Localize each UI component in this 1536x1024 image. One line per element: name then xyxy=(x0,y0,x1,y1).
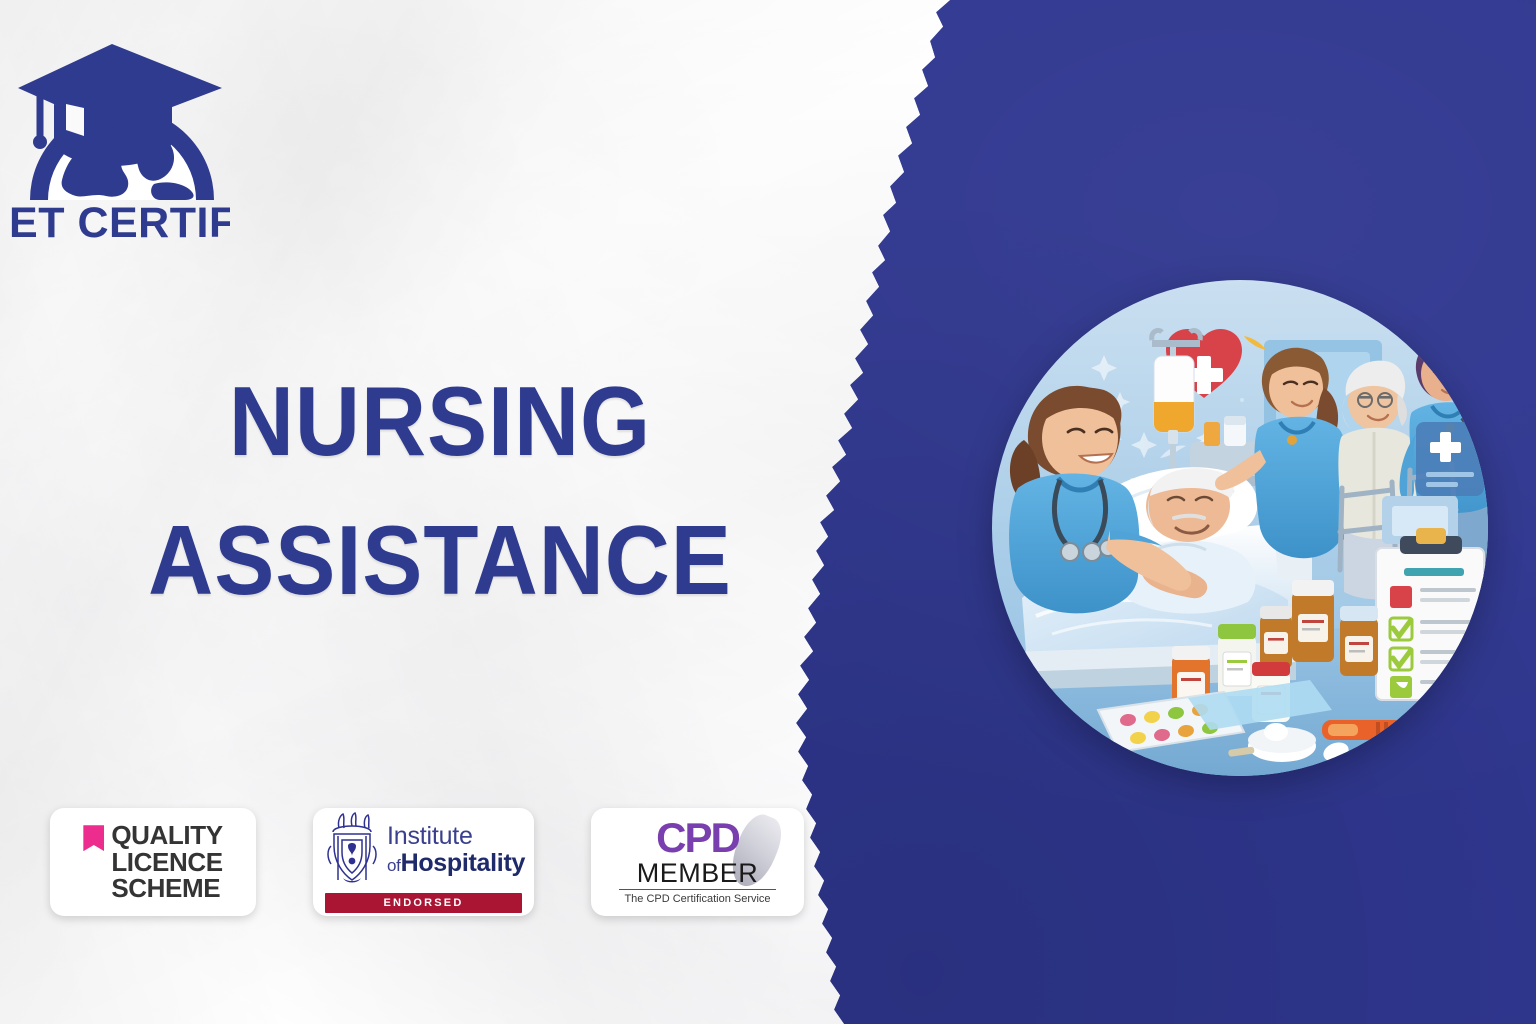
bookmark-icon xyxy=(83,825,104,851)
qls-line-2: LICENCE xyxy=(111,849,222,876)
accreditation-badges: QUALITY LICENCE SCHEME xyxy=(50,808,804,916)
badge-cpd-member[interactable]: CPD MEMBER The CPD Certification Service xyxy=(591,808,804,916)
qls-line-3: SCHEME xyxy=(111,875,222,902)
title-line-2: ASSISTANCE xyxy=(35,491,845,630)
cpd-subtitle: The CPD Certification Service xyxy=(601,893,794,906)
course-banner: GET CERTIFY NURSING ASSISTANCE QUALITY L… xyxy=(0,0,1536,1024)
qls-line-1: QUALITY xyxy=(111,822,222,849)
ioh-line-2: Hospitality xyxy=(401,849,526,877)
graduation-cap-globe-icon xyxy=(18,44,222,200)
badge-quality-licence-scheme[interactable]: QUALITY LICENCE SCHEME xyxy=(50,808,256,916)
badge-institute-of-hospitality[interactable]: Institute ofHospitality ENDORSED xyxy=(313,808,534,916)
ioh-line-1: Institute xyxy=(387,824,525,849)
ioh-of: of xyxy=(387,856,401,875)
heraldic-crest-icon xyxy=(325,812,379,888)
get-certify-logo[interactable]: GET CERTIFY xyxy=(10,30,230,245)
page-title: NURSING ASSISTANCE xyxy=(0,352,880,630)
ioh-endorsed-ribbon: ENDORSED xyxy=(325,893,522,913)
cpd-member-label: MEMBER xyxy=(601,859,794,887)
title-line-1: NURSING xyxy=(35,352,845,491)
logo-wordmark: GET CERTIFY xyxy=(10,199,230,245)
cpd-divider xyxy=(619,889,776,890)
nursing-assistance-illustration xyxy=(992,280,1488,776)
cpd-title: CPD xyxy=(601,818,794,858)
